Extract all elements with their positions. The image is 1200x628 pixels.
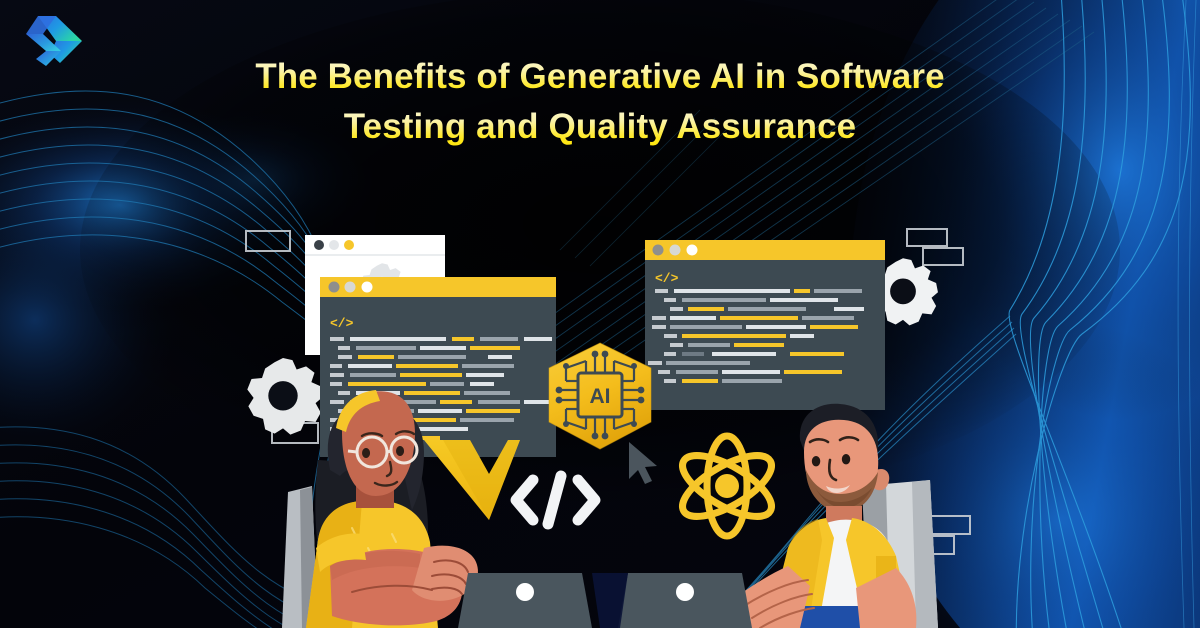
code-brackets-icon — [516, 476, 595, 524]
window-dot-3 — [362, 282, 373, 293]
ai-chip-label: AI — [590, 385, 611, 408]
code-symbol-right: </> — [655, 271, 679, 286]
window-dot-2 — [345, 282, 356, 293]
window-dot-1 — [329, 282, 340, 293]
banner-root: The Benefits of Generative AI in Softwar… — [0, 0, 1200, 628]
ai-chip-hexagon[interactable]: AI — [549, 343, 651, 449]
banner-title: The Benefits of Generative AI in Softwar… — [200, 52, 1000, 152]
vue-logo — [424, 440, 520, 520]
atom-icon — [674, 436, 781, 536]
laptop-logo-left — [516, 583, 534, 601]
laptop-logo-right — [676, 583, 694, 601]
laptop-left[interactable] — [458, 573, 592, 628]
window-dot-1 — [314, 240, 324, 250]
title-line-2: Testing and Quality Assurance — [200, 102, 1000, 152]
window-dot-3 — [687, 245, 698, 256]
window-dot-2 — [670, 245, 681, 256]
window-dot-2 — [329, 240, 339, 250]
window-dot-3 — [344, 240, 354, 250]
code-window-right[interactable]: </> — [645, 240, 885, 410]
window-dot-1 — [653, 245, 664, 256]
title-line-1: The Benefits of Generative AI in Softwar… — [200, 52, 1000, 102]
laptop-right[interactable] — [618, 573, 752, 628]
code-symbol-left: </> — [330, 316, 354, 331]
cursor-arrow-icon[interactable] — [629, 442, 657, 484]
